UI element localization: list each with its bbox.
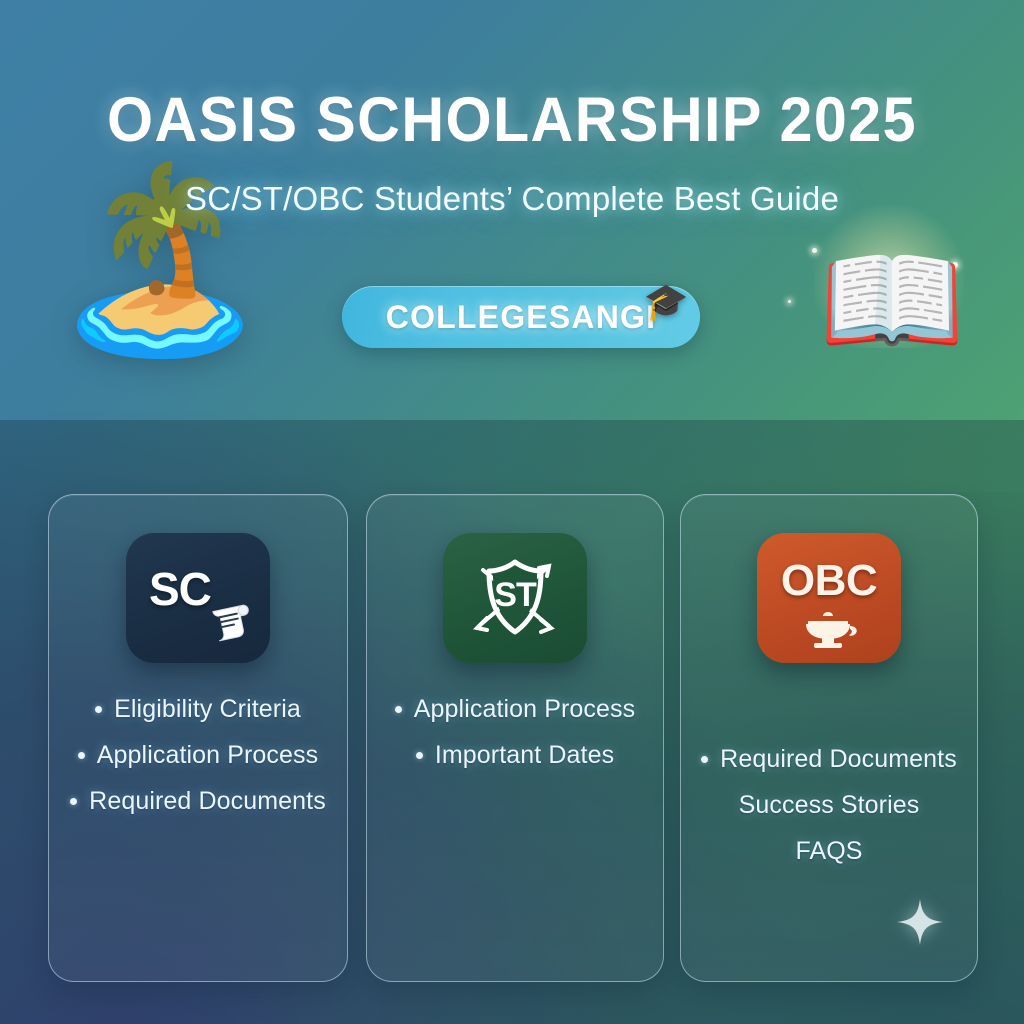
list-item[interactable]: Success Stories: [739, 791, 920, 820]
bullet-dot: [416, 752, 423, 759]
svg-text:ST: ST: [494, 576, 537, 614]
sc-icon-tile: SC: [126, 533, 270, 663]
shield-with-arrows-icon: ST: [463, 548, 567, 648]
list-item-label: Eligibility Criteria: [114, 695, 301, 724]
page-subtitle: SC/ST/OBC Students’ Complete Best Guide: [0, 180, 1024, 218]
list-item-label: Required Documents: [89, 787, 326, 816]
category-cards: SC: [0, 420, 1024, 1024]
list-item-label: Application Process: [97, 741, 318, 770]
sparkle-dot: [788, 300, 791, 303]
list-item[interactable]: Application Process: [395, 695, 635, 724]
hero-section: 🏝️ 📖 OASIS SCHOLARSHIP 2025 SC/ST/OBC St…: [0, 0, 1024, 420]
list-item-label: Important Dates: [435, 741, 614, 770]
card-sc[interactable]: SC: [48, 494, 348, 982]
list-item[interactable]: Important Dates: [416, 741, 614, 770]
four-point-sparkle-icon: [897, 899, 943, 945]
list-item-label: Required Documents: [720, 745, 957, 774]
obc-bullet-list: Required Documents Success Stories FAQS: [681, 745, 977, 866]
list-item[interactable]: Eligibility Criteria: [95, 695, 301, 724]
obc-icon-tile: OBC: [757, 533, 901, 663]
sc-bullet-list: Eligibility Criteria Application Process…: [49, 695, 347, 816]
brand-badge-label: COLLEGESANGI: [386, 299, 656, 336]
list-item-label: FAQS: [795, 837, 862, 866]
bullet-dot: [701, 756, 708, 763]
list-item-label: Success Stories: [739, 791, 920, 820]
card-st[interactable]: ST ST Application Process Important Date…: [366, 494, 664, 982]
poster-canvas: 🏝️ 📖 OASIS SCHOLARSHIP 2025 SC/ST/OBC St…: [0, 0, 1024, 1024]
st-icon-tile: ST ST: [443, 533, 587, 663]
sc-tile-label: SC: [149, 562, 211, 616]
list-item-label: Application Process: [414, 695, 635, 724]
obc-tile-label: OBC: [774, 556, 884, 606]
bullet-dot: [70, 798, 77, 805]
st-bullet-list: Application Process Important Dates: [367, 695, 663, 770]
page-title: OASIS SCHOLARSHIP 2025: [31, 84, 994, 156]
card-obc[interactable]: OBC Requi: [680, 494, 978, 982]
list-item[interactable]: Application Process: [78, 741, 318, 770]
scroll-icon: [205, 594, 257, 646]
list-item[interactable]: FAQS: [795, 837, 862, 866]
graduation-cap-icon: 🎓: [640, 280, 692, 324]
brand-badge[interactable]: COLLEGESANGI 🎓: [342, 286, 700, 348]
bullet-dot: [78, 752, 85, 759]
bullet-dot: [395, 706, 402, 713]
open-book-icon: 📖: [792, 226, 992, 376]
bullet-dot: [95, 706, 102, 713]
list-item[interactable]: Required Documents: [70, 787, 326, 816]
list-item[interactable]: Required Documents: [701, 745, 957, 774]
oil-lamp-icon: [794, 610, 864, 650]
